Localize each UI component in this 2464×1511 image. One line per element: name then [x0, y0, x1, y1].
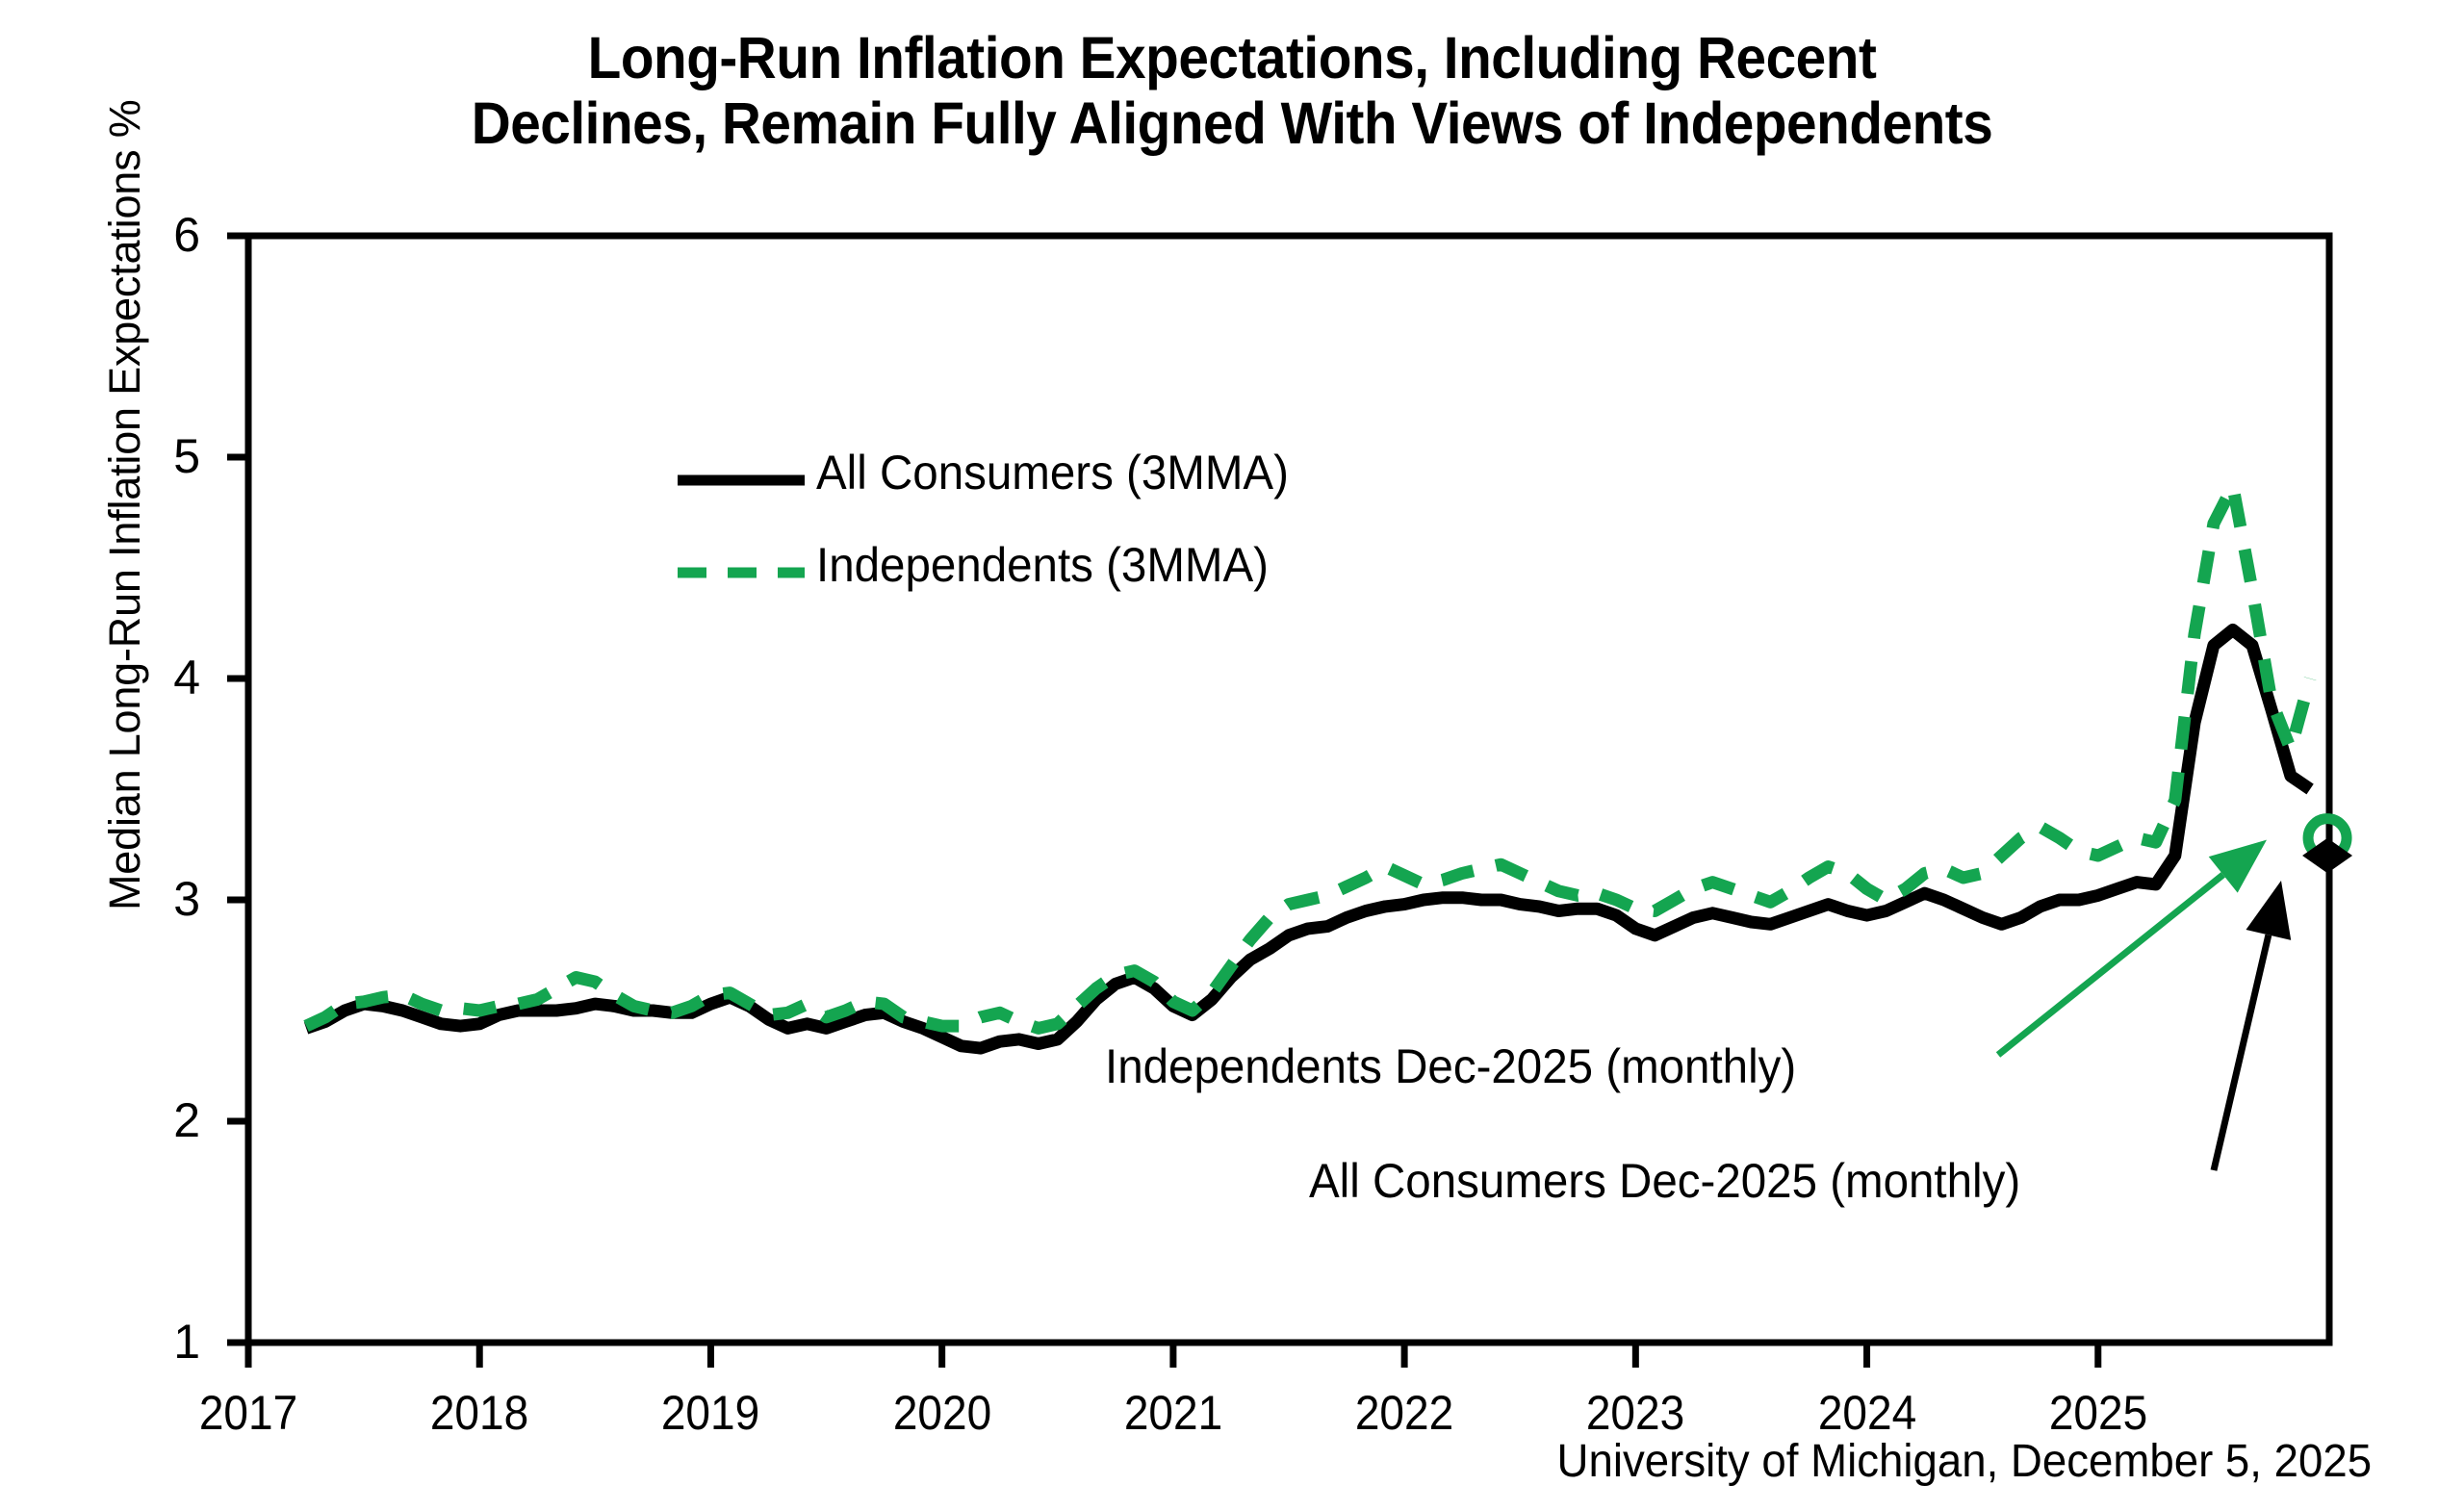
annotation-all-consumers: All Consumers Dec-2025 (monthly) [1309, 1155, 2020, 1207]
x-tick-label: 2017 [151, 1389, 346, 1437]
x-tick-label: 2019 [613, 1389, 808, 1437]
legend-label-all-consumers: All Consumers (3MMA) [816, 446, 1289, 499]
legend-label-independents: Independents (3MMA) [816, 538, 1269, 592]
series-line [306, 629, 2310, 1048]
x-tick-label: 2024 [1769, 1389, 1963, 1437]
x-tick-label: 2022 [1307, 1389, 1501, 1437]
x-tick-label: 2025 [2001, 1389, 2195, 1437]
legend-swatch-dashed-icon [674, 553, 808, 592]
annotation-arrows [1998, 840, 2291, 1170]
annotation-independents: Independents Dec-2025 (monthly) [1105, 1040, 1796, 1092]
x-tick-label: 2020 [844, 1389, 1039, 1437]
x-tick-label: 2018 [382, 1389, 577, 1437]
series-lines [306, 486, 2310, 1048]
source-footer: University of Michigan, December 5, 2025 [1556, 1436, 2372, 1488]
x-tick-marks [248, 1343, 2098, 1368]
chart-page: Long-Run Inflation Expectations, Includi… [0, 0, 2464, 1511]
series-line [306, 486, 2310, 1029]
x-tick-label: 2023 [1538, 1389, 1732, 1437]
y-tick-label: 1 [114, 1318, 200, 1366]
y-tick-label: 6 [114, 211, 200, 259]
x-tick-label: 2021 [1076, 1389, 1270, 1437]
annotation-arrow-independents [1998, 840, 2267, 1055]
legend-swatch-solid-icon [674, 461, 808, 499]
y-tick-label: 5 [114, 432, 200, 480]
y-tick-label: 2 [114, 1096, 200, 1144]
plot-area [0, 0, 2464, 1511]
y-tick-label: 4 [114, 653, 200, 702]
y-tick-label: 3 [114, 875, 200, 923]
annotation-arrow-all-consumers [2214, 881, 2291, 1170]
